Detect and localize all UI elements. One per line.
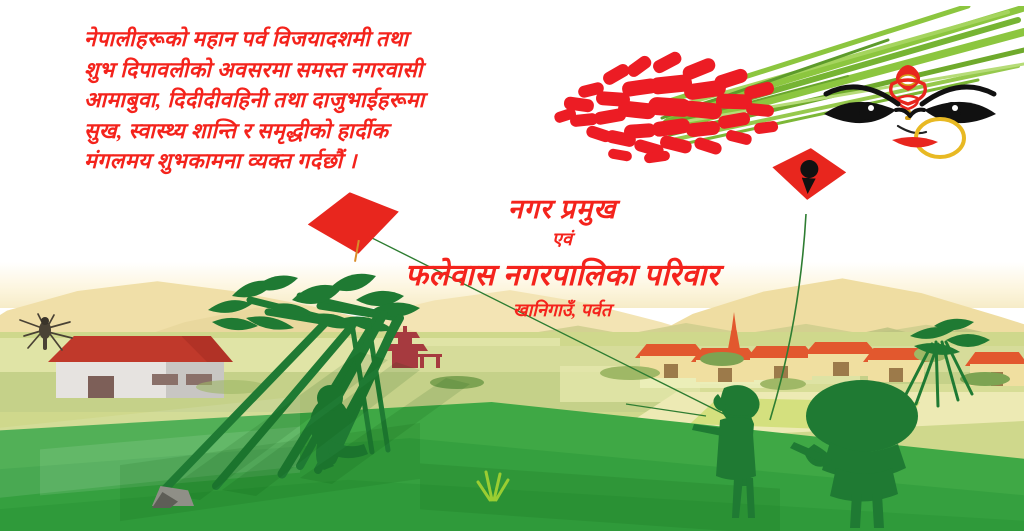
child-kite-flyer-right-icon: [790, 372, 940, 531]
message-line-4: सुख, स्वास्थ्य शान्ति र समृद्धीको हार्दी…: [84, 116, 554, 147]
message-line-3: आमाबुवा, दिदीदीवहिनी तथा दाजुभाईहरूमा: [84, 85, 554, 116]
message-line-2: शुभ दिपावलीको अवसरमा समस्त नगरवासी: [84, 55, 554, 86]
child-kite-flyer-left-icon: [690, 382, 780, 524]
signature-block: नगर प्रमुख एवं फलेवास नगरपालिका परिवार ख…: [352, 192, 772, 323]
signature-conjunction: एवं: [352, 226, 772, 252]
signature-organization: फलेवास नगरपालिका परिवार: [352, 256, 772, 296]
message-line-5: मंगलमय शुभकामना व्यक्त गर्दछौं ।: [84, 146, 554, 177]
message-line-1: नेपालीहरूको महान पर्व विजयादशमी तथा: [84, 24, 554, 55]
signature-title: नगर प्रमुख: [352, 192, 772, 226]
signature-address: खानिगाउँ, पर्वत: [352, 297, 772, 323]
greeting-message: नेपालीहरूको महान पर्व विजयादशमी तथा शुभ …: [84, 24, 554, 177]
greeting-card: नेपालीहरूको महान पर्व विजयादशमी तथा शुभ …: [0, 0, 1024, 531]
red-kite-right-icon: [770, 145, 847, 202]
